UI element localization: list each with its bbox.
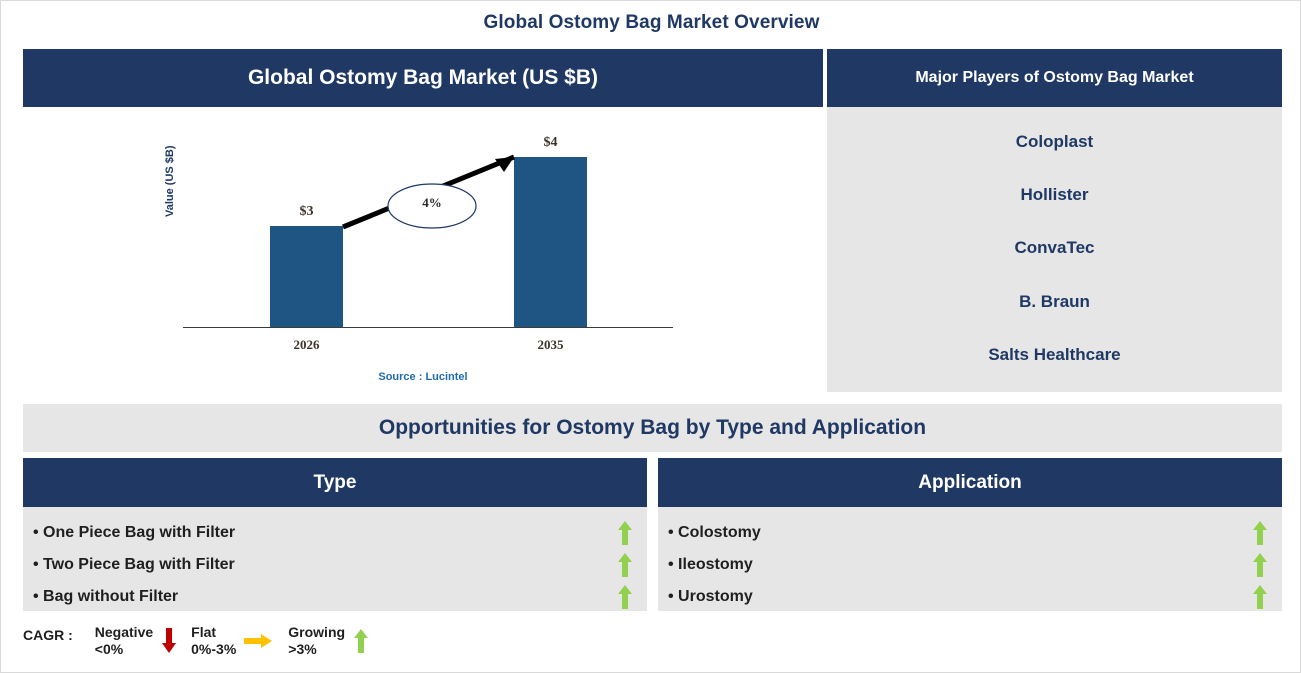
cagr-growth-arrow-icon (23, 107, 823, 394)
x-axis-line (183, 327, 673, 328)
legend-flat-icon-wrap (244, 624, 274, 658)
chart-source-label: Source : Lucintel (23, 371, 823, 383)
x-tick-2035: 2035 (514, 337, 587, 353)
legend-flat-name: Flat (191, 624, 236, 641)
player-item: ConvaTec (827, 238, 1282, 258)
bar-2035 (514, 157, 587, 327)
legend-negative-range: <0% (95, 641, 153, 658)
arrow-up-icon (353, 629, 369, 653)
legend-flat-range: 0%-3% (191, 641, 236, 658)
table-row: • Bag without Filter (23, 581, 647, 613)
players-panel-header: Major Players of Ostomy Bag Market (827, 49, 1282, 107)
arrow-up-icon (617, 521, 633, 545)
opportunity-label: • Two Piece Bag with Filter (33, 556, 235, 574)
page-title: Global Ostomy Bag Market Overview (1, 12, 1301, 34)
legend-entry-negative: Negative <0% (95, 624, 177, 658)
infographic-page: Global Ostomy Bag Market Overview Global… (0, 0, 1301, 673)
table-row: • Ileostomy (658, 549, 1282, 581)
table-row: • Colostomy (658, 517, 1282, 549)
player-item: B. Braun (827, 292, 1282, 312)
opportunity-label: • Bag without Filter (33, 588, 178, 606)
opportunity-label: • One Piece Bag with Filter (33, 524, 235, 542)
table-row: • Two Piece Bag with Filter (23, 549, 647, 581)
bar-value-2026: $3 (270, 204, 343, 220)
bar-2026 (270, 226, 343, 327)
opportunity-label: • Colostomy (668, 524, 761, 542)
opportunities-banner: Opportunities for Ostomy Bag by Type and… (23, 404, 1282, 452)
table-header-application: Application (658, 458, 1282, 507)
legend-entry-flat: Flat 0%-3% (191, 624, 274, 658)
legend-negative-icon-wrap (161, 624, 177, 658)
legend-entry-growing: Growing >3% (288, 624, 369, 658)
table-body-application: • Colostomy • Ileostomy • Urostomy (658, 507, 1282, 611)
table-row: • One Piece Bag with Filter (23, 517, 647, 549)
chart-panel-header: Global Ostomy Bag Market (US $B) (23, 49, 823, 107)
opportunities-table-application: Application • Colostomy • Ileostomy • Ur… (658, 458, 1282, 611)
legend-entry-growing-text: Growing >3% (288, 624, 345, 658)
arrow-up-icon (617, 553, 633, 577)
bar-chart: Value (US $B) $3 $4 2026 2035 4% Source … (23, 107, 823, 394)
major-players-list: Coloplast Hollister ConvaTec B. Braun Sa… (827, 107, 1282, 392)
table-row: • Urostomy (658, 581, 1282, 613)
player-item: Hollister (827, 185, 1282, 205)
table-header-type: Type (23, 458, 647, 507)
opportunity-label: • Ileostomy (668, 556, 753, 574)
arrow-up-icon (1252, 521, 1268, 545)
x-tick-2026: 2026 (270, 337, 343, 353)
bar-value-2035: $4 (514, 135, 587, 151)
arrow-up-icon (1252, 585, 1268, 609)
cagr-callout-label: 4% (398, 195, 466, 211)
player-item: Salts Healthcare (827, 345, 1282, 365)
cagr-legend: CAGR : Negative <0% Flat 0%-3% (23, 624, 383, 668)
legend-entry-flat-text: Flat 0%-3% (191, 624, 236, 658)
arrow-up-icon (617, 585, 633, 609)
arrow-down-icon (161, 628, 177, 654)
opportunities-table-type: Type • One Piece Bag with Filter • Two P… (23, 458, 647, 611)
legend-negative-name: Negative (95, 624, 153, 641)
y-axis-label: Value (US $B) (164, 145, 176, 217)
legend-growing-icon-wrap (353, 624, 369, 658)
player-item: Coloplast (827, 132, 1282, 152)
legend-entry-negative-text: Negative <0% (95, 624, 153, 658)
arrow-right-icon (244, 633, 274, 649)
legend-growing-range: >3% (288, 641, 345, 658)
table-body-type: • One Piece Bag with Filter • Two Piece … (23, 507, 647, 611)
arrow-up-icon (1252, 553, 1268, 577)
chart-panel: Value (US $B) $3 $4 2026 2035 4% Source … (23, 107, 823, 394)
opportunity-label: • Urostomy (668, 588, 753, 606)
cagr-legend-label: CAGR : (23, 624, 73, 643)
legend-growing-name: Growing (288, 624, 345, 641)
